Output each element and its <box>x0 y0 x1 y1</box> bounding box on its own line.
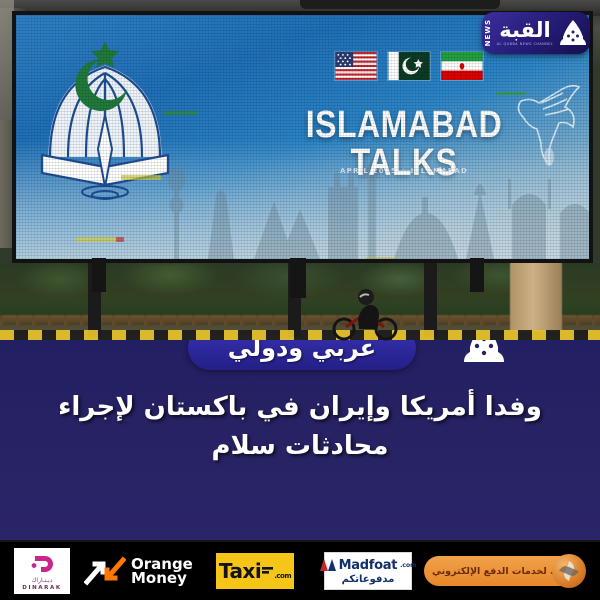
dome-icon <box>558 19 588 47</box>
led-glitch-bar <box>121 175 161 180</box>
led-glitch-bar <box>366 257 398 262</box>
dinarak-label-ar: ديـنـاراك <box>31 577 52 584</box>
sponsor-madfoat-com[interactable]: Madfoat .com مدفوعاتكم <box>324 552 412 590</box>
billboard-post <box>92 258 106 292</box>
category-badge-label: عربي ودولي <box>228 340 376 360</box>
support-post <box>424 263 437 337</box>
orange-money-label: Orange Money <box>131 557 193 586</box>
channel-logo-name: القبة <box>499 20 551 41</box>
billboard-subtitle-place: ISLAMABAD <box>411 167 468 175</box>
taxi-word: Taxi <box>219 559 261 583</box>
flag-row <box>334 51 484 81</box>
dinarak-logo-icon <box>29 552 55 576</box>
dinarak-label-en: DINARAK <box>22 585 61 591</box>
dome-icon <box>458 340 510 368</box>
channel-logo-news-label: NEWS <box>484 19 492 46</box>
flyover-pillar <box>510 263 562 331</box>
led-glitch-bar <box>496 92 526 95</box>
news-photo: ISLAMABAD TALKS APRIL 2025|ISLAMABAD <box>0 0 600 345</box>
billboard-post <box>470 258 484 292</box>
headline-panel: عربي ودولي وفدا أمريكا وإيران في باكستان… <box>0 340 600 540</box>
led-glitch-bar <box>164 111 198 115</box>
united-states-flag <box>334 51 378 81</box>
billboard-subtitle-separator: | <box>402 167 406 175</box>
sponsor-dinarak[interactable]: ديـنـاراك DINARAK <box>14 548 70 594</box>
pakistan-government-dome-emblem <box>30 37 180 222</box>
taxi-suffix: .com <box>274 572 291 580</box>
sponsor-taxi-com[interactable]: Taxi .com <box>216 553 294 589</box>
news-card: ISLAMABAD TALKS APRIL 2025|ISLAMABAD <box>0 0 600 600</box>
madfoat-logo-icon <box>320 559 336 572</box>
channel-logo-tagline: AL QUBBA NEWS CHANNEL <box>497 42 554 46</box>
orange-money-arrows-icon <box>84 556 126 586</box>
iran-flag <box>440 51 484 81</box>
sponsor-rahtak[interactable]: راحتك لخدمات الدفع الإلكتروني <box>424 556 584 586</box>
pakistan-flag <box>387 51 431 81</box>
channel-logo[interactable]: NEWS القبة AL QUBBA NEWS CHANNEL <box>482 12 590 54</box>
sponsor-bar: ديـنـاراك DINARAK Orange Money Taxi .com <box>0 540 600 600</box>
rahtak-swirl-icon <box>552 554 586 588</box>
taxi-label: Taxi .com <box>219 559 291 583</box>
sponsor-orange-money[interactable]: Orange Money <box>84 556 193 586</box>
madfoat-word: Madfoat <box>339 558 398 573</box>
headline-text: وفدا أمريكا وإيران في باكستان لإجراء محا… <box>20 388 580 466</box>
billboard-subtitle: APRIL 2025|ISLAMABAD <box>254 167 554 175</box>
madfoat-suffix: .com <box>400 562 416 569</box>
motorcycle-rider <box>330 283 398 341</box>
billboard-subtitle-date: APRIL 2025 <box>340 167 397 175</box>
taxi-flag-icon <box>262 566 273 578</box>
orange-money-line2: Money <box>131 571 193 585</box>
led-glitch-bar <box>116 237 124 242</box>
category-badge[interactable]: عربي ودولي <box>188 340 416 370</box>
led-glitch-bar <box>76 237 116 242</box>
madfoat-label-ar: مدفوعاتكم <box>342 574 395 585</box>
billboard-post <box>290 258 306 298</box>
madfoat-row: Madfoat .com <box>320 558 417 573</box>
